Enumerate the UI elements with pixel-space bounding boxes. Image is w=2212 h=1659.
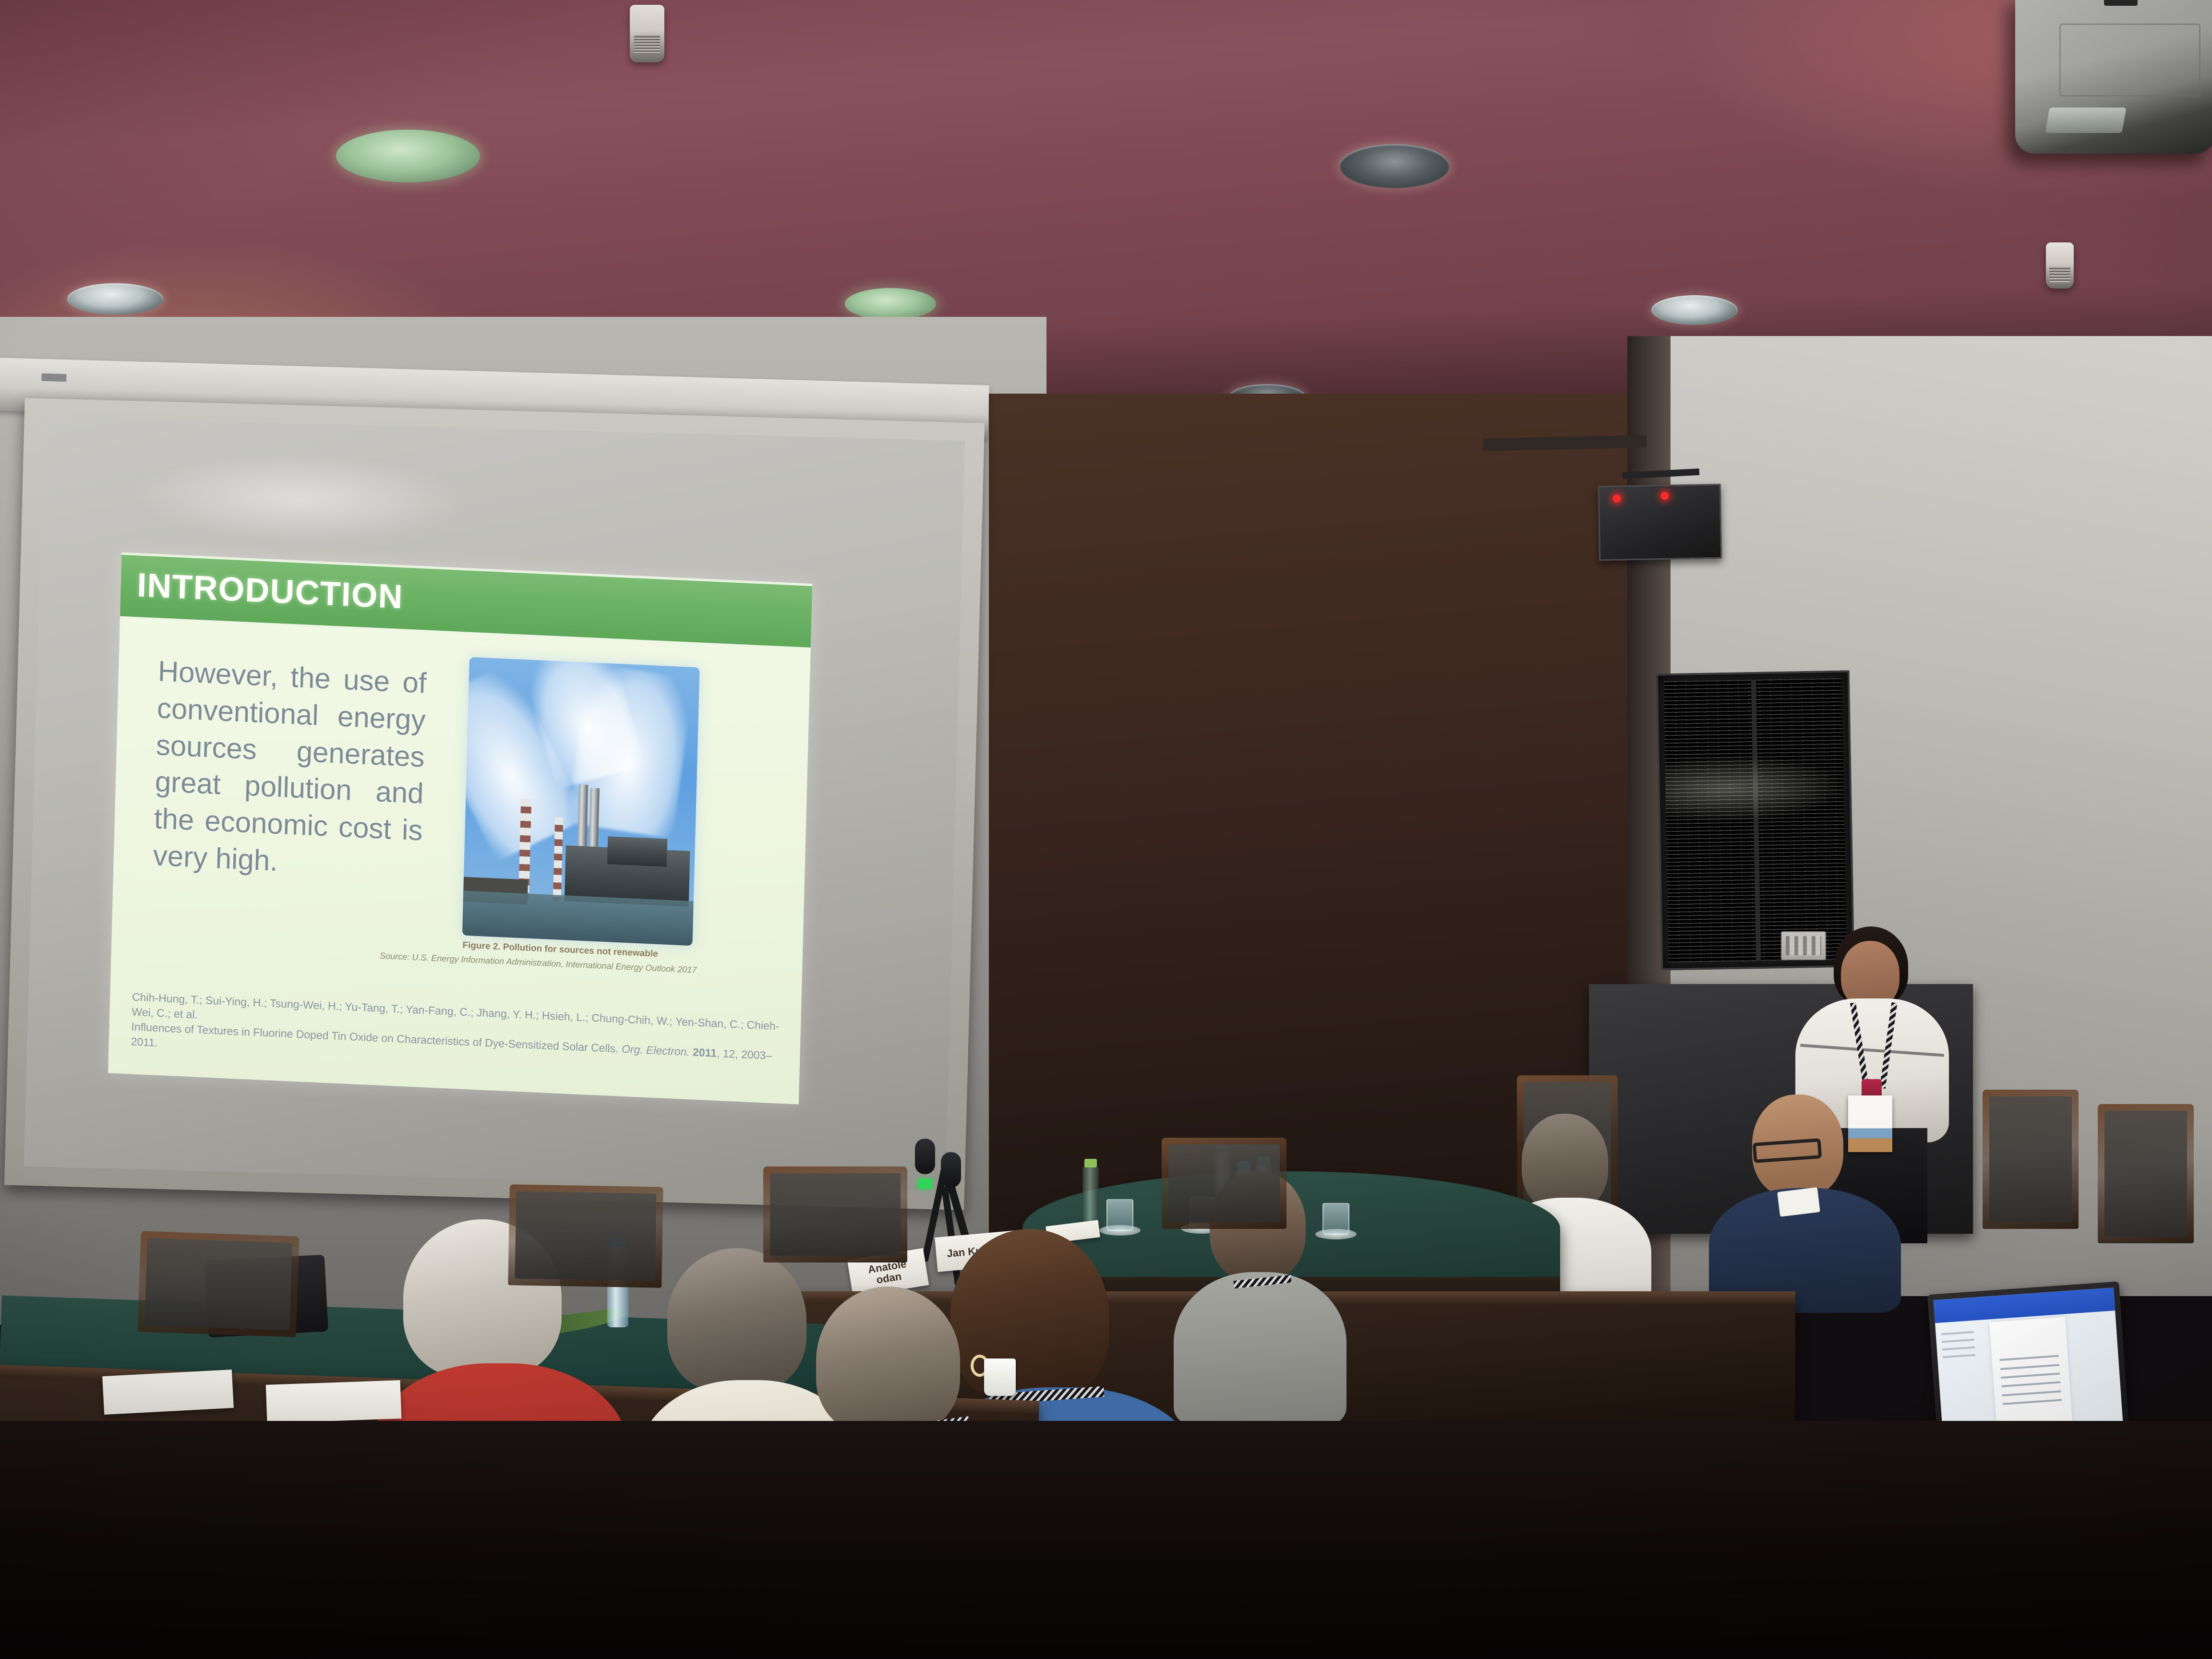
- downlight-icon: [67, 283, 163, 315]
- microphone-head-icon: [941, 1152, 961, 1188]
- microphone-led-icon: [918, 1178, 932, 1189]
- shirt-collar: [1777, 1187, 1820, 1217]
- chair-back: [1168, 1144, 1280, 1222]
- document-line: [2000, 1364, 2059, 1370]
- handout-paper: [102, 1370, 234, 1415]
- document-line: [2003, 1399, 2062, 1406]
- document-line: [2001, 1373, 2060, 1379]
- downlight-icon: [1651, 295, 1738, 325]
- grille-divider: [1751, 680, 1760, 961]
- smokestack: [553, 817, 563, 901]
- handout-paper: [266, 1380, 402, 1423]
- chair: [763, 1166, 907, 1262]
- ceiling-projector-icon: [2015, 0, 2212, 154]
- projector-lens-icon: [2045, 108, 2127, 133]
- chair-back: [144, 1238, 292, 1330]
- wall-ventilation-grille: [1656, 671, 1855, 971]
- audience-member: [1709, 1094, 1901, 1310]
- projector-panel-seam: [2059, 24, 2200, 96]
- projector-mount: [2104, 0, 2138, 6]
- pelmet-brand-badge: [41, 373, 66, 382]
- document-page: [1989, 1317, 2073, 1432]
- slide-body-text: However, the use of conventional energy …: [153, 653, 427, 886]
- downlight-icon: [845, 288, 936, 320]
- slide-figure: Figure 2. Pollution for sources not rene…: [462, 657, 700, 946]
- slide-citation: Chih-Hung, T.; Sui-Ying, H.; Tsung-Wei, …: [131, 989, 781, 1079]
- presenter-head: [1841, 941, 1899, 1008]
- citation-year: 2011: [693, 1046, 717, 1059]
- citation-journal: Org. Electron.: [622, 1043, 690, 1058]
- speaker-led-indicator: [1613, 494, 1621, 502]
- smoke-detector-icon: [630, 5, 664, 62]
- downlight-icon: [336, 130, 480, 182]
- chair-back: [1989, 1096, 2072, 1222]
- chair-back: [515, 1191, 656, 1281]
- sidebar-line: [1943, 1354, 1975, 1358]
- drinking-glass: [1106, 1199, 1133, 1231]
- window-titlebar: [1934, 1287, 2115, 1323]
- water-bottle: [1082, 1166, 1099, 1229]
- downlight-icon: [1339, 144, 1450, 188]
- projection-screen: INTRODUCTION However, the use of convent…: [4, 398, 985, 1210]
- power-plant-building: [607, 836, 667, 867]
- chair-back: [770, 1173, 901, 1256]
- audience-hair: [816, 1286, 960, 1435]
- chair: [1162, 1138, 1286, 1229]
- projected-slide: INTRODUCTION However, the use of convent…: [108, 553, 812, 1105]
- document-line: [1999, 1355, 2058, 1361]
- chair-back: [2104, 1111, 2187, 1237]
- smoke-detector-icon: [2046, 242, 2074, 289]
- bottle-cap: [1084, 1159, 1097, 1167]
- screen-light-hotspot: [132, 449, 467, 548]
- sidebar-panel: [1941, 1329, 1981, 1390]
- wall-speaker-unit: [1598, 484, 1722, 561]
- sidebar-line: [1942, 1339, 1974, 1343]
- pollution-photo: [462, 657, 700, 946]
- microphone-head-icon: [915, 1139, 935, 1174]
- document-line: [2001, 1382, 2060, 1388]
- document-line: [2002, 1390, 2061, 1396]
- speaker-led-indicator: [1661, 492, 1669, 500]
- chair: [2098, 1104, 2194, 1243]
- sidebar-line: [1941, 1331, 1974, 1335]
- chair: [508, 1184, 663, 1288]
- chair: [137, 1231, 299, 1337]
- lecture-room-photo: INTRODUCTION However, the use of convent…: [0, 0, 2212, 1659]
- chair: [1983, 1090, 2079, 1229]
- foreground-shadow: [0, 1421, 2212, 1659]
- sidebar-line: [1942, 1346, 1975, 1351]
